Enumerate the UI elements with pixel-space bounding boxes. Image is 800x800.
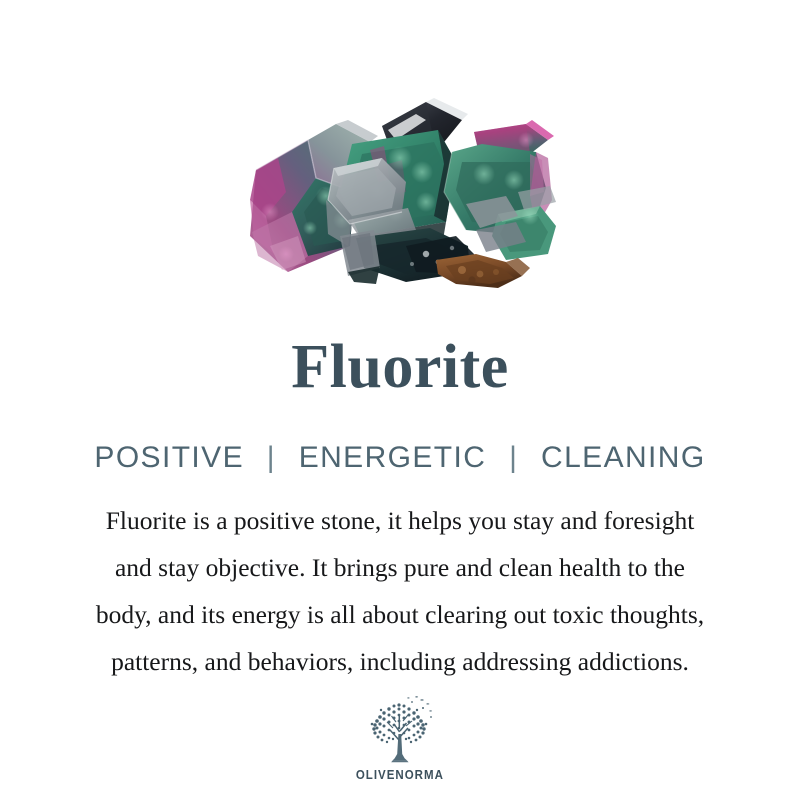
keyword-cleaning: CLEANING bbox=[541, 441, 706, 474]
page-title: Fluorite bbox=[0, 336, 800, 398]
description-line: body, and its energy is all about cleari… bbox=[0, 591, 800, 638]
description-line: Fluorite is a positive stone, it helps y… bbox=[0, 497, 800, 544]
fluorite-crystal-cluster-photo bbox=[230, 96, 575, 296]
keyword-separator: | bbox=[496, 441, 531, 474]
crystal-facet-right bbox=[444, 120, 556, 260]
keyword-separator: | bbox=[254, 441, 289, 474]
keyword-list: POSITIVE | ENERGETIC | CLEANING bbox=[0, 441, 800, 474]
brand-logo: OLIVENORMA bbox=[0, 694, 800, 782]
olive-tree-icon bbox=[363, 694, 437, 766]
keyword-energetic: ENERGETIC bbox=[299, 441, 487, 474]
crystal-matrix-base bbox=[436, 254, 530, 288]
crystal-info-card: Fluorite POSITIVE | ENERGETIC | CLEANING… bbox=[0, 0, 800, 800]
fluorite-crystal-image bbox=[230, 96, 575, 296]
description-line: patterns, and behaviors, including addre… bbox=[0, 638, 800, 685]
description-line: and stay objective. It brings pure and c… bbox=[0, 544, 800, 591]
keyword-positive: POSITIVE bbox=[94, 441, 244, 474]
brand-name: OLIVENORMA bbox=[356, 768, 444, 782]
description-text: Fluorite is a positive stone, it helps y… bbox=[0, 497, 800, 685]
